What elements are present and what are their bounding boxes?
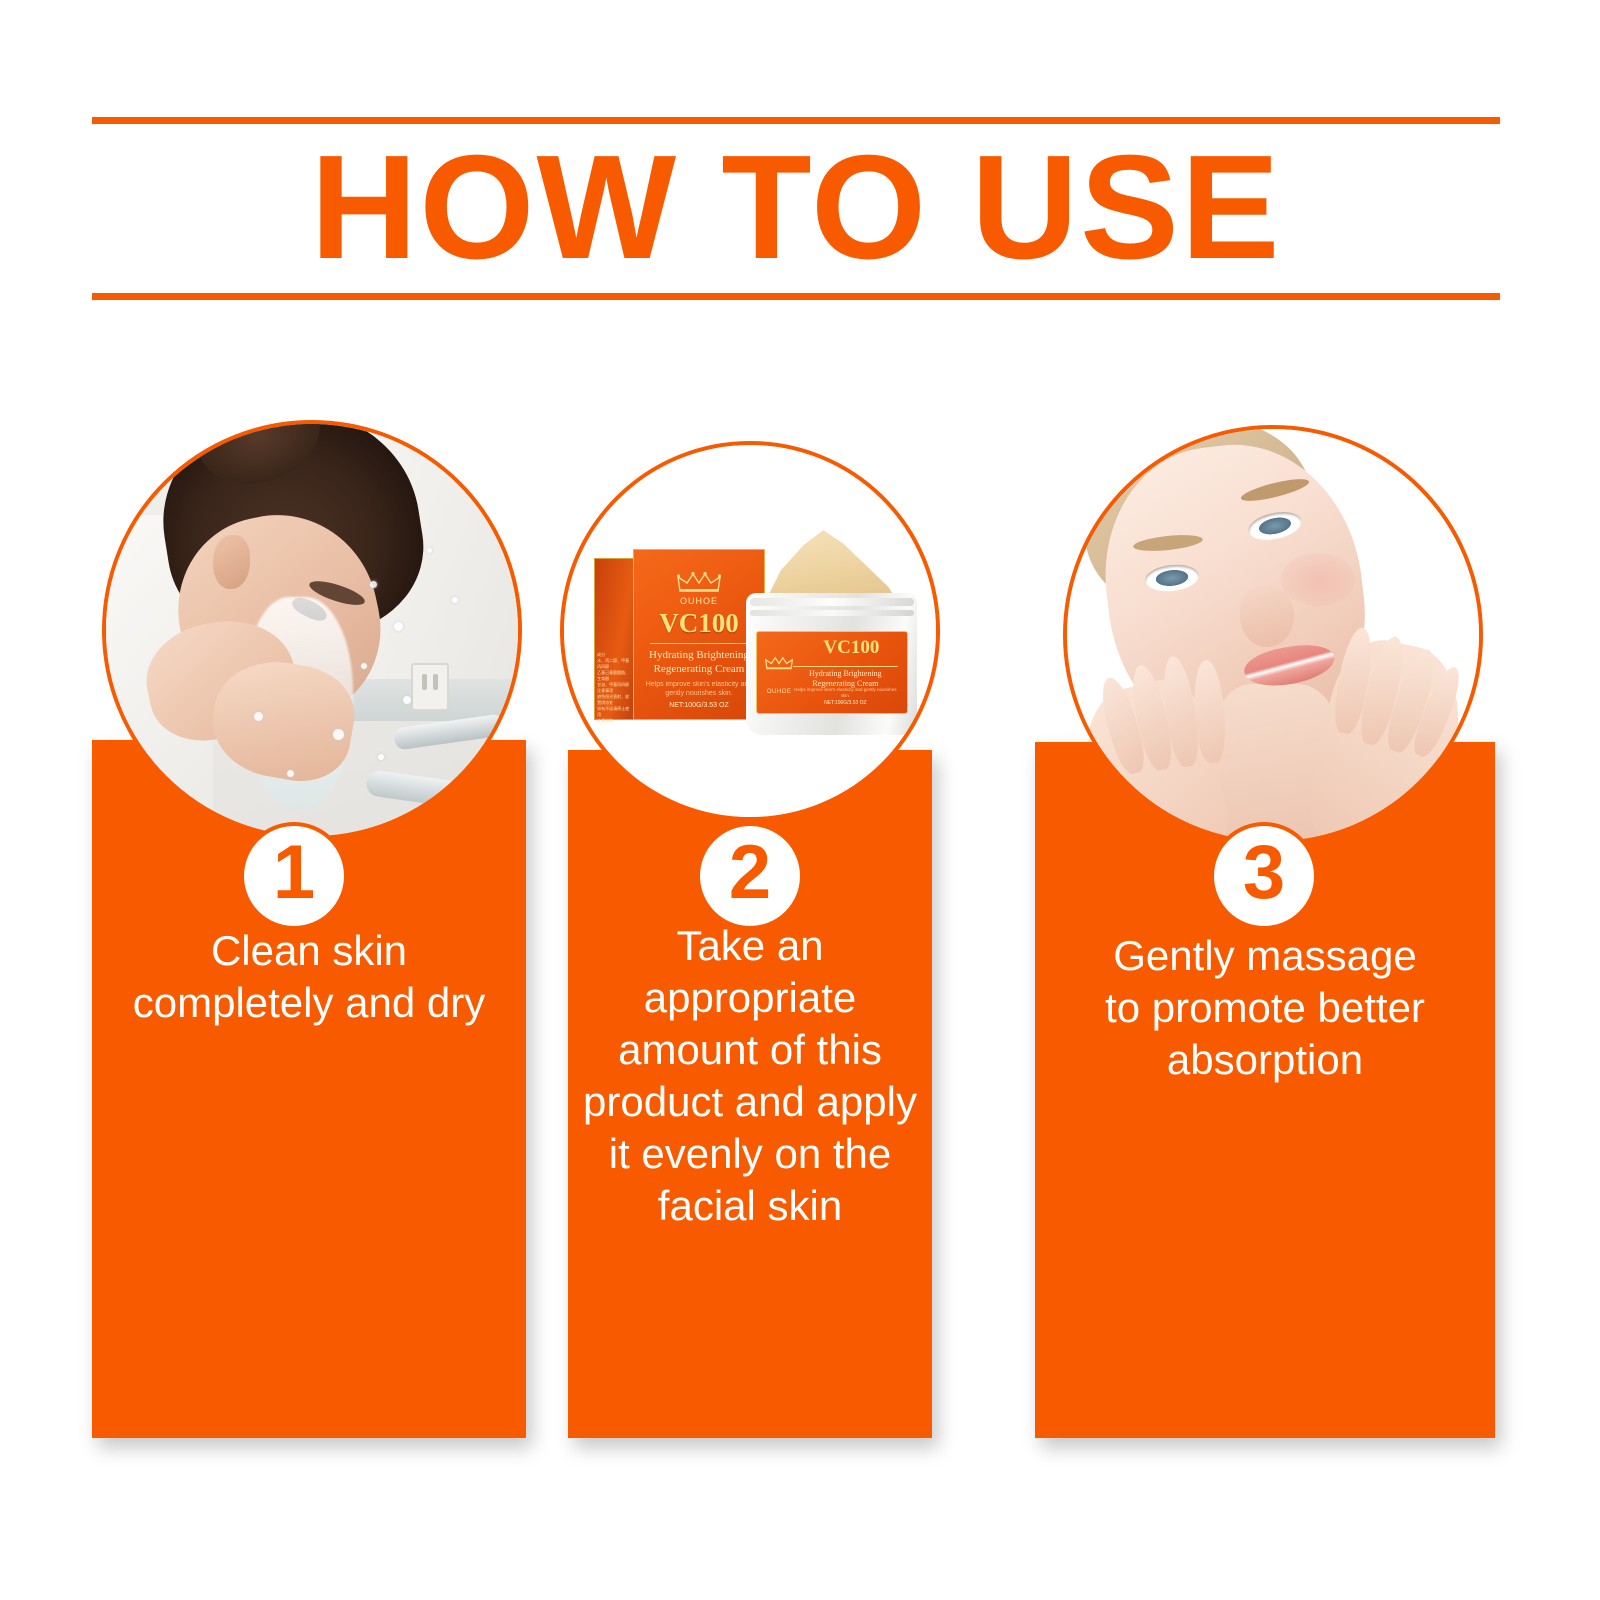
jar-product-name: VC100 [799, 637, 904, 659]
step-caption-3: Gently massageto promote better absorpti… [1035, 930, 1495, 1086]
product-divider [650, 643, 749, 644]
jar-rim-2 [750, 610, 914, 616]
header: HOW TO USE [92, 100, 1500, 300]
infographic-page: HOW TO USE [0, 0, 1600, 1600]
step-caption-2: Take an appropriate amount of this produ… [568, 920, 932, 1232]
header-rule-top [92, 117, 1500, 124]
jar-descriptor-line-1: Hydrating Brightening [793, 669, 898, 679]
step-photo-2: 成分水、丙二醇、甲基丙四醇乙基己基脆酸酰、生育酚甘油、甲基丙四醇注意事项避免阳光… [560, 441, 940, 821]
step-badge-3: 3 [1210, 822, 1318, 930]
product-illustration: 成分水、丙二醇、甲基丙四醇乙基己基脆酸酰、生育酚甘油、甲基丙四醇注意事项避免阳光… [564, 445, 936, 817]
product-box-side-text: 成分水、丙二醇、甲基丙四醇乙基己基脆酸酰、生育酚甘油、甲基丙四醇注意事项避免阳光… [597, 652, 631, 724]
jar-rim-1 [750, 598, 914, 606]
page-title: HOW TO USE [92, 128, 1500, 288]
face-massage-illustration [1067, 429, 1479, 841]
jar-descriptor: Hydrating Brightening Regenerating Cream [793, 669, 898, 689]
jar-net-weight: NET:100G/3.53 OZ [793, 700, 898, 706]
jar-label: OUHOE VC100 Hydrating Brightening Regene… [756, 631, 909, 714]
product-box-side: 成分水、丙二醇、甲基丙四醇乙基己基脆酸酰、生育酚甘油、甲基丙四醇注意事项避免阳光… [594, 558, 635, 721]
step-badge-1: 1 [240, 822, 348, 930]
header-rule-bottom [92, 293, 1500, 300]
step-caption-1-line-1: Clean skincompletely and dry [98, 925, 520, 1029]
step-photo-1 [102, 420, 522, 840]
step-badge-2: 2 [696, 822, 804, 930]
jar-crown-icon [763, 656, 796, 676]
jar-divider [793, 666, 898, 667]
washing-face-illustration [106, 424, 518, 836]
step-caption-1: Clean skincompletely and dry [92, 925, 526, 1029]
step-photo-3 [1063, 425, 1483, 845]
steps-container: 1 Clean skincompletely and dry 成分水、丙二醇、甲… [0, 420, 1600, 1480]
product-jar: OUHOE VC100 Hydrating Brightening Regene… [739, 527, 925, 735]
jar-claim: Helps improve skin's elasticity and gent… [793, 687, 898, 699]
